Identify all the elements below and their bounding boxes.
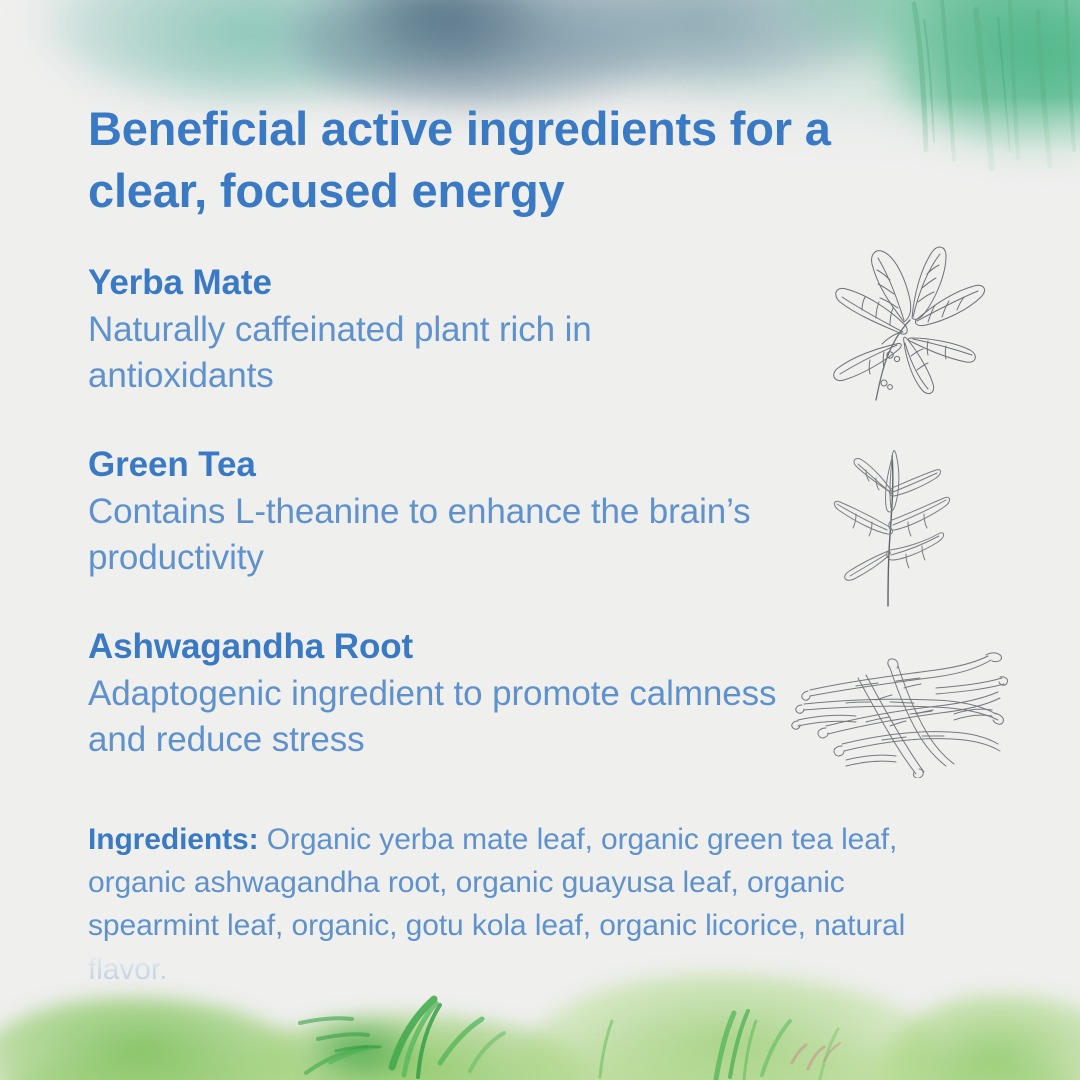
ashwagandha-root-bundle-icon	[786, 648, 1021, 778]
ingredient-term: Green Tea	[88, 444, 778, 485]
ingredient-description: Contains L-theanine to enhance the brain…	[88, 489, 778, 580]
ingredient-block-yerba-mate: Yerba Mate Naturally caffeinated plant r…	[88, 262, 778, 398]
green-tea-sprig-icon	[826, 440, 1011, 610]
ingredients-label: Ingredients:	[88, 823, 258, 856]
ingredient-term: Yerba Mate	[88, 262, 778, 303]
page-title: Beneficial active ingredients for a clea…	[88, 98, 888, 222]
ingredients-paragraph: Ingredients: Organic yerba mate leaf, or…	[88, 818, 958, 991]
ingredient-block-ashwagandha-root: Ashwagandha Root Adaptogenic ingredient …	[88, 626, 778, 762]
yerba-mate-branch-icon	[818, 222, 1023, 407]
product-ingredient-infographic: Beneficial active ingredients for a clea…	[0, 0, 1080, 1080]
ingredient-term: Ashwagandha Root	[88, 626, 778, 667]
ingredient-block-green-tea: Green Tea Contains L-theanine to enhance…	[88, 444, 778, 580]
ingredient-description: Naturally caffeinated plant rich in anti…	[88, 307, 778, 398]
ingredient-description: Adaptogenic ingredient to promote calmne…	[88, 671, 778, 762]
